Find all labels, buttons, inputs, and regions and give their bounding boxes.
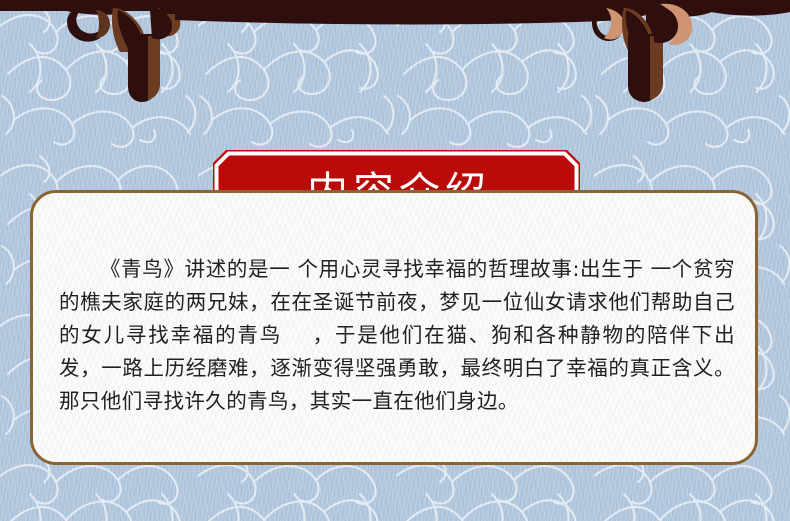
wooden-beam-ornament [0, 0, 790, 120]
content-description-card: 《青鸟》讲述的是一 个用心灵寻找幸福的哲理故事:出生于 一个贫穷的樵夫家庭的两兄… [30, 190, 758, 465]
book-detail-page: 内容介绍 《青鸟》讲述的是一 个用心灵寻找幸福的哲理故事:出生于 一个贫穷的樵夫… [0, 0, 790, 521]
description-paragraph: 《青鸟》讲述的是一 个用心灵寻找幸福的哲理故事:出生于 一个贫穷的樵夫家庭的两兄… [59, 253, 735, 418]
card-body: 《青鸟》讲述的是一 个用心灵寻找幸福的哲理故事:出生于 一个贫穷的樵夫家庭的两兄… [33, 193, 758, 465]
